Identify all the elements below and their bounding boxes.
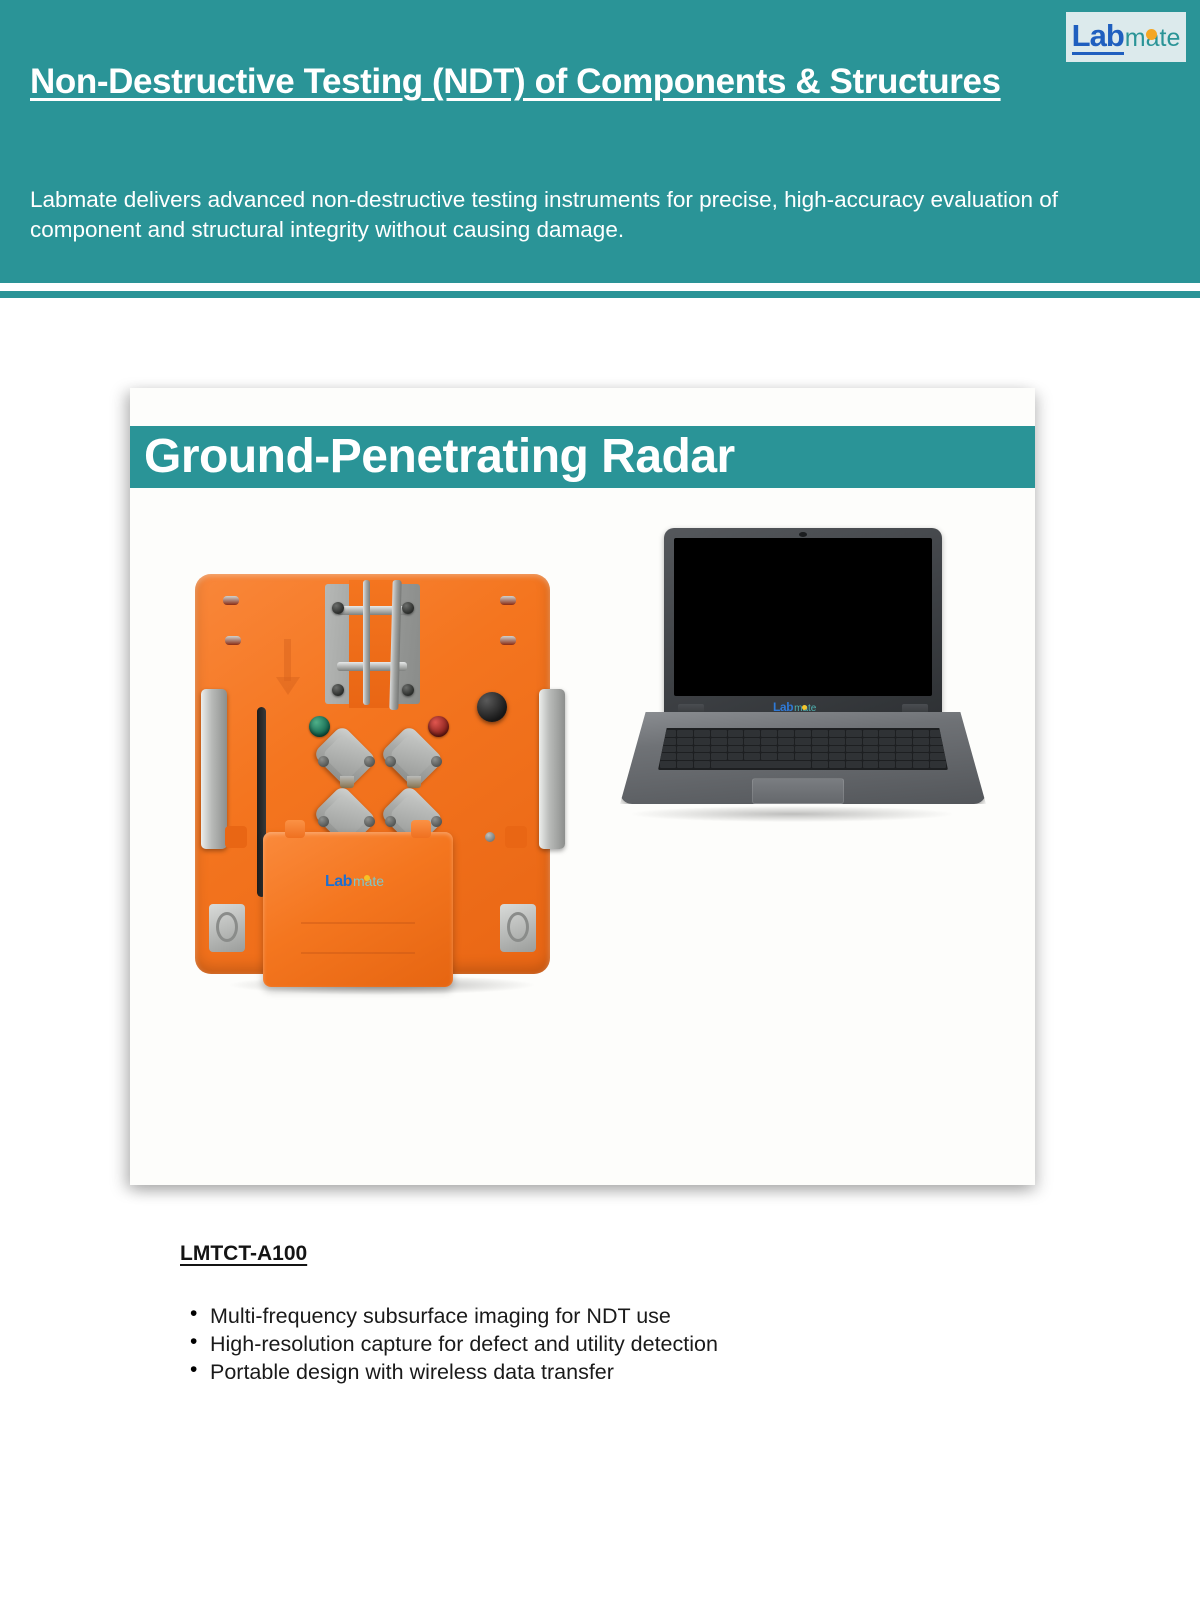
gpr-pack-logo-dot-icon — [364, 875, 370, 881]
gpr-pack-clip — [411, 820, 431, 838]
labmate-logo-orange-dot-icon — [1146, 29, 1157, 40]
gpr-latch-ring — [507, 912, 529, 942]
laptop-drop-shadow — [632, 806, 952, 822]
gpr-connector-lug — [431, 756, 442, 767]
keyboard-row — [660, 730, 946, 737]
gpr-pack-seam — [301, 922, 415, 924]
gpr-latch-left — [209, 904, 245, 952]
laptop-logo-lab-text: Lab — [773, 701, 793, 713]
gpr-pack-seam — [301, 952, 415, 954]
keyboard-row — [660, 761, 946, 768]
gpr-connector-lug — [385, 816, 396, 827]
feature-item: Multi-frequency subsurface imaging for N… — [186, 1302, 986, 1330]
gpr-corner-screw — [500, 636, 516, 645]
product-banner-title: Ground-Penetrating Radar — [130, 433, 735, 481]
gpr-carry-handle-left — [201, 689, 227, 849]
keyboard-row — [660, 738, 946, 745]
product-card: Ground-Penetrating Radar — [130, 388, 1035, 1185]
gpr-corner-screw — [225, 636, 241, 645]
gpr-pack-logo-lab-text: Lab — [325, 874, 352, 890]
gpr-handle-tab — [225, 826, 247, 848]
laptop-trackpad[interactable] — [752, 778, 844, 804]
gpr-carry-handle-right — [539, 689, 565, 849]
product-image-stage: Lab mate Lab — [130, 488, 1035, 1185]
gpr-status-led-green — [309, 716, 330, 737]
gpr-bolt — [402, 602, 414, 614]
gpr-pack-labmate-logo: Lab mate — [325, 874, 384, 890]
gpr-corner-screw — [500, 596, 516, 605]
gpr-connector-lug — [318, 756, 329, 767]
gpr-latch-ring — [216, 912, 238, 942]
page-header: Lab mate Non-Destructive Testing (NDT) o… — [0, 0, 1200, 283]
control-laptop-image: Lab mate — [600, 506, 990, 846]
page-title: Non-Destructive Testing (NDT) of Compone… — [30, 60, 1030, 105]
gpr-bracket-slot — [349, 580, 395, 708]
product-datasheet-page: Lab mate Non-Destructive Testing (NDT) o… — [0, 0, 1200, 1600]
gpr-latch-right — [500, 904, 536, 952]
laptop-keyboard[interactable] — [658, 728, 948, 770]
gpr-connector-lug — [431, 816, 442, 827]
keyboard-row — [660, 753, 946, 760]
labmate-logo-mate-text: mate — [1125, 26, 1181, 51]
product-model-number: LMTCT-A100 — [180, 1242, 307, 1266]
laptop-webcam-icon — [799, 532, 807, 537]
gpr-connector-hinge — [407, 776, 421, 788]
page-subtitle: Labmate delivers advanced non-destructiv… — [30, 185, 1060, 246]
laptop-lid: Lab mate — [664, 528, 942, 718]
ground-penetrating-radar-image: Lab mate — [175, 560, 575, 1010]
laptop-screen — [674, 538, 932, 696]
header-divider-rule — [0, 291, 1200, 298]
gpr-small-indicator-led — [485, 832, 495, 842]
gpr-connector-hinge — [340, 776, 354, 788]
labmate-logo: Lab mate — [1066, 12, 1186, 62]
gpr-pack-logo-mate-text: mate — [353, 874, 384, 888]
gpr-connector-port[interactable] — [387, 736, 443, 786]
gpr-connector-lug — [364, 756, 375, 767]
feature-item: Portable design with wireless data trans… — [186, 1358, 986, 1386]
gpr-bolt — [332, 684, 344, 696]
gpr-corner-screw — [223, 596, 239, 605]
gpr-bolt — [402, 684, 414, 696]
gpr-connector-lug — [364, 816, 375, 827]
gpr-handle-tab — [505, 826, 527, 848]
gpr-connector-port[interactable] — [320, 736, 376, 786]
gpr-connector-cap — [322, 734, 369, 781]
gpr-connector-lug — [318, 816, 329, 827]
labmate-logo-lab-text: Lab — [1072, 20, 1124, 55]
product-banner: Ground-Penetrating Radar — [130, 426, 1035, 488]
gpr-direction-arrow-icon — [273, 639, 303, 699]
gpr-connector-cap — [389, 734, 436, 781]
gpr-status-led-red — [428, 716, 449, 737]
product-feature-list: Multi-frequency subsurface imaging for N… — [186, 1302, 986, 1386]
gpr-battery-pack: Lab mate — [263, 832, 453, 987]
keyboard-row — [660, 746, 946, 753]
feature-item: High-resolution capture for defect and u… — [186, 1330, 986, 1358]
gpr-pack-clip — [285, 820, 305, 838]
gpr-bolt — [332, 602, 344, 614]
gpr-bracket-vertical-rail — [363, 580, 370, 705]
gpr-control-knob[interactable] — [477, 692, 507, 722]
labmate-logo-wordmark: Lab mate — [1072, 20, 1181, 55]
gpr-connector-lug — [385, 756, 396, 767]
